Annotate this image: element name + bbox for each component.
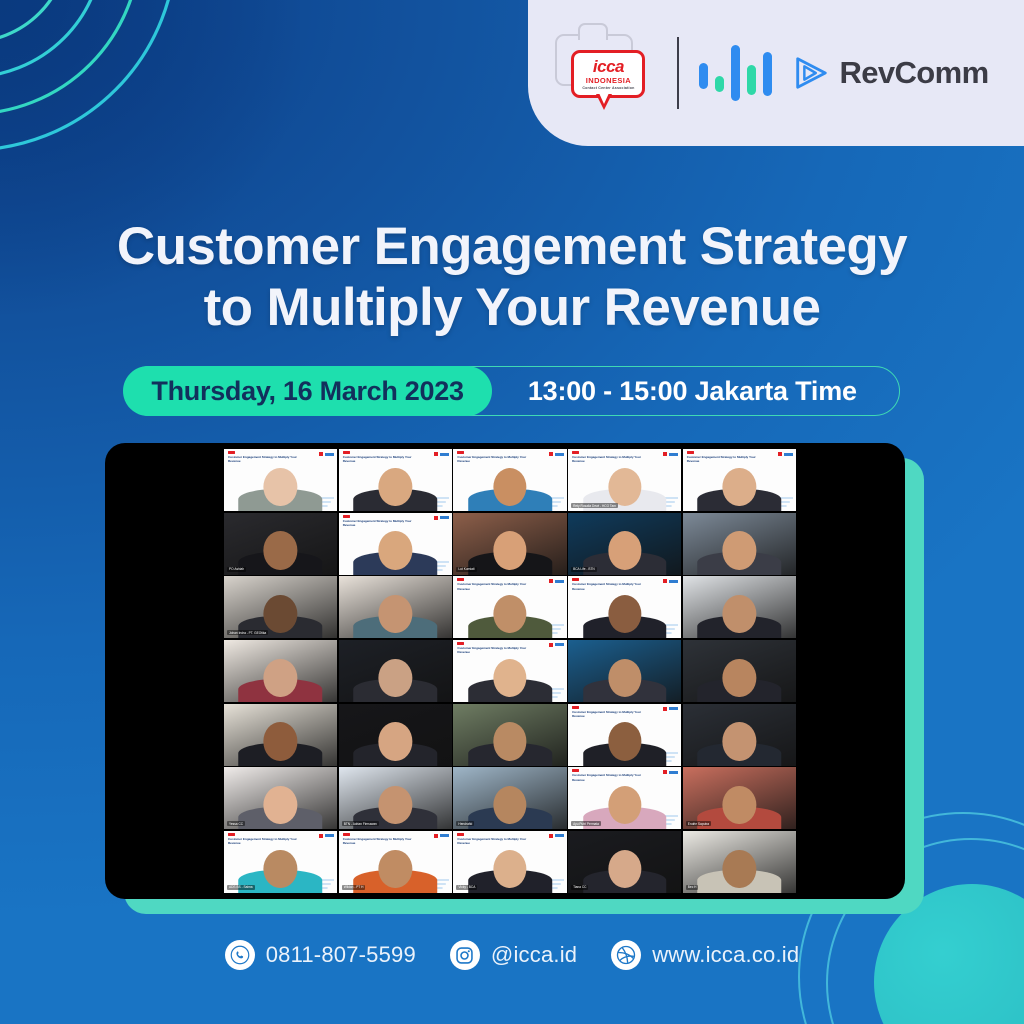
participant-video	[353, 722, 437, 765]
slide-brand-mark	[572, 706, 579, 709]
participant-name-label: Bec H	[686, 885, 699, 890]
participant-name-label: Endrie Saputra	[686, 821, 711, 826]
icca-tagline: Contact Center Association	[582, 86, 634, 91]
waveform-bar-3	[731, 45, 740, 101]
slide-logos	[434, 516, 449, 520]
participant-name-label: Hendrafid	[456, 821, 474, 826]
participant-video	[583, 595, 667, 638]
participant-tile[interactable]	[453, 704, 566, 766]
participant-tile[interactable]	[683, 576, 796, 638]
participant-tile[interactable]	[339, 704, 452, 766]
waveform-bar-4	[747, 65, 756, 95]
participant-tile[interactable]: Customer Engagement Strategy to Multiply…	[339, 831, 452, 893]
participant-video	[468, 531, 552, 574]
date-text: Thursday, 16 March 2023	[151, 376, 463, 407]
participant-video	[698, 595, 782, 638]
participant-head	[608, 722, 642, 761]
participant-tile[interactable]: Yessa CC	[224, 767, 337, 829]
participant-tile[interactable]: Customer Engagement Strategy to Multiply…	[224, 449, 337, 511]
slide-title: Customer Engagement Strategy to Multiply…	[457, 646, 534, 655]
participant-head	[379, 722, 413, 761]
participant-tile[interactable]: Customer Engagement Strategy to Multiply…	[568, 449, 681, 511]
participant-video	[583, 850, 667, 893]
slide-logo-icca	[663, 452, 667, 456]
date-badge: Thursday, 16 March 2023	[123, 366, 491, 416]
participant-head	[493, 595, 527, 634]
participant-head	[723, 786, 757, 825]
participant-head	[608, 659, 642, 698]
participant-tile[interactable]: Tiana CC	[568, 831, 681, 893]
revcomm-wordmark: RevComm	[839, 55, 988, 91]
participant-video	[698, 850, 782, 893]
participant-video	[353, 659, 437, 702]
slide-logo-icca	[663, 707, 667, 711]
whatsapp-number: 0811-807-5599	[266, 942, 416, 968]
participant-tile[interactable]	[683, 640, 796, 702]
participant-head	[723, 531, 757, 570]
participant-name-label: Wildan - PT H	[342, 885, 366, 890]
slide-title: Customer Engagement Strategy to Multiply…	[457, 837, 534, 846]
participant-head	[264, 531, 298, 570]
slide-logo-icca	[663, 770, 667, 774]
participant-tile[interactable]: Customer Engagement Strategy to Multiply…	[453, 576, 566, 638]
participant-tile[interactable]: PO Ashiah	[224, 513, 337, 575]
icca-logo: icca INDONESIA Contact Center Associatio…	[553, 28, 657, 118]
participant-head	[493, 531, 527, 570]
participant-tile[interactable]: Customer Engagement Strategy to Multiply…	[339, 449, 452, 511]
slide-logo-icca	[549, 834, 553, 838]
participant-video	[468, 786, 552, 829]
slide-logos	[549, 579, 564, 583]
participant-video	[468, 595, 552, 638]
icca-country: INDONESIA	[586, 76, 631, 86]
participant-head	[493, 850, 527, 889]
title-line-1: Customer Engagement Strategy	[0, 216, 1024, 277]
participant-video	[353, 595, 437, 638]
participant-head	[379, 850, 413, 889]
participant-video	[468, 659, 552, 702]
slide-logos	[663, 579, 678, 583]
participant-tile[interactable]	[339, 640, 452, 702]
waveform-bar-2	[715, 76, 724, 92]
slide-logo-icca	[663, 579, 667, 583]
slide-logo-revcomm	[669, 453, 678, 456]
slide-logo-revcomm	[555, 580, 564, 583]
participant-video	[239, 659, 323, 702]
participant-head	[608, 786, 642, 825]
participant-video	[698, 531, 782, 574]
slide-title: Customer Engagement Strategy to Multiply…	[343, 455, 420, 464]
slide-logo-revcomm	[669, 771, 678, 774]
slide-title: Customer Engagement Strategy to Multiply…	[228, 455, 305, 464]
participant-tile[interactable]: Customer Engagement Strategy to Multiply…	[339, 513, 452, 575]
participant-video	[239, 468, 323, 511]
participant-head	[379, 595, 413, 634]
slide-title: Customer Engagement Strategy to Multiply…	[572, 455, 649, 464]
slide-logo-revcomm	[440, 453, 449, 456]
slide-logo-icca	[549, 579, 553, 583]
participant-head	[608, 595, 642, 634]
participant-head	[379, 786, 413, 825]
participant-video	[698, 468, 782, 511]
slide-title: Customer Engagement Strategy to Multiply…	[687, 455, 764, 464]
slide-logos	[663, 707, 678, 711]
slide-brand-mark	[457, 451, 464, 454]
icca-wordmark: icca	[593, 58, 624, 75]
slide-logos	[549, 834, 564, 838]
slide-logo-revcomm	[669, 580, 678, 583]
contact-whatsapp[interactable]: 0811-807-5599	[225, 940, 416, 970]
instagram-icon	[450, 940, 480, 970]
participant-name-label: Rety Rosalia Dewi - HCO Tam	[571, 503, 618, 508]
slide-logo-icca	[434, 516, 438, 520]
slide-logos	[663, 452, 678, 456]
slide-logo-icca	[434, 834, 438, 838]
globe-icon	[611, 940, 641, 970]
slide-brand-mark	[457, 833, 464, 836]
slide-brand-mark	[343, 833, 350, 836]
participant-head	[493, 786, 527, 825]
participant-name-label: Tiana CC	[571, 885, 588, 890]
slide-logos	[434, 452, 449, 456]
participant-tile[interactable]: Endrie Saputra	[683, 767, 796, 829]
participant-head	[379, 468, 413, 507]
logo-divider	[677, 37, 679, 109]
slide-logos	[319, 834, 334, 838]
participant-tile[interactable]: Customer Engagement Strategy to Multiply…	[568, 576, 681, 638]
slide-logos	[663, 770, 678, 774]
participant-tile[interactable]: Bec H	[683, 831, 796, 893]
participant-tile[interactable]: Customer Engagement Strategy to Multiply…	[453, 831, 566, 893]
participant-tile[interactable]: Customer Engagement Strategy to Multiply…	[453, 449, 566, 511]
slide-logo-revcomm	[784, 453, 793, 456]
participant-tile[interactable]	[224, 704, 337, 766]
participant-video	[698, 722, 782, 765]
slide-logo-revcomm	[325, 834, 334, 837]
slide-logo-revcomm	[555, 643, 564, 646]
participant-tile[interactable]: Customer Engagement Strategy to Multiply…	[453, 640, 566, 702]
participant-video	[353, 468, 437, 511]
slide-title: Customer Engagement Strategy to Multiply…	[457, 455, 534, 464]
slide-title: Customer Engagement Strategy to Multiply…	[343, 837, 420, 846]
participant-head	[264, 659, 298, 698]
slide-logo-revcomm	[440, 516, 449, 519]
participant-head	[723, 722, 757, 761]
participant-video	[468, 468, 552, 511]
participant-video	[583, 659, 667, 702]
waveform-bar-1	[699, 63, 708, 89]
participant-tile[interactable]: BCA Life - BTN	[568, 513, 681, 575]
slide-logos	[549, 452, 564, 456]
website-url: www.icca.co.id	[652, 942, 799, 968]
slide-brand-mark	[572, 769, 579, 772]
event-title: Customer Engagement Strategy to Multiply…	[0, 216, 1024, 339]
participant-name-label: BCA Life - BTN	[571, 567, 597, 572]
participant-name-label: Yessa CC	[227, 821, 245, 826]
participant-head	[723, 659, 757, 698]
slide-brand-mark	[228, 833, 235, 836]
slide-logo-icca	[319, 834, 323, 838]
participant-tile[interactable]	[568, 640, 681, 702]
participant-head	[608, 531, 642, 570]
contact-instagram[interactable]: @icca.id	[450, 940, 577, 970]
participant-head	[723, 468, 757, 507]
slide-logos	[319, 452, 334, 456]
slide-logos	[434, 834, 449, 838]
participant-video	[353, 531, 437, 574]
participant-tile[interactable]	[683, 513, 796, 575]
participant-video	[468, 850, 552, 893]
participant-name-label: PO Ashiah	[227, 567, 246, 572]
participant-head	[264, 595, 298, 634]
slide-logo-icca	[778, 452, 782, 456]
slide-title: Customer Engagement Strategy to Multiply…	[572, 710, 649, 719]
participant-head	[264, 786, 298, 825]
participant-head	[379, 531, 413, 570]
participant-grid: Customer Engagement Strategy to Multiply…	[224, 449, 796, 893]
speech-bubble-icon: icca INDONESIA Contact Center Associatio…	[571, 50, 645, 98]
footer-contacts: 0811-807-5599 @icca.id www.icca.co.id	[0, 940, 1024, 970]
participant-video	[468, 722, 552, 765]
instagram-handle: @icca.id	[491, 942, 577, 968]
slide-title: Customer Engagement Strategy to Multiply…	[343, 519, 420, 528]
participant-video	[239, 722, 323, 765]
slide-logo-revcomm	[555, 834, 564, 837]
participant-video	[698, 659, 782, 702]
title-line-2: to Multiply Your Revenue	[0, 277, 1024, 338]
zoom-gallery-screenshot: Customer Engagement Strategy to Multiply…	[105, 443, 905, 899]
slide-logo-revcomm	[555, 453, 564, 456]
header-logo-panel: icca INDONESIA Contact Center Associatio…	[528, 0, 1024, 146]
time-text: 13:00 - 15:00 Jakarta Time	[492, 376, 899, 407]
participant-tile[interactable]	[683, 704, 796, 766]
slide-brand-mark	[343, 515, 350, 518]
slide-title: Customer Engagement Strategy to Multiply…	[572, 582, 649, 591]
participant-video	[239, 786, 323, 829]
slide-brand-mark	[687, 451, 694, 454]
participant-tile[interactable]	[224, 640, 337, 702]
participant-head	[264, 850, 298, 889]
bubble-tail-icon	[596, 94, 612, 110]
participant-head	[608, 850, 642, 889]
slide-brand-mark	[343, 451, 350, 454]
participant-head	[723, 850, 757, 889]
slide-logo-icca	[549, 643, 553, 647]
slide-logo-icca	[549, 452, 553, 456]
participant-head	[379, 659, 413, 698]
revcomm-logo: RevComm	[792, 54, 988, 92]
participant-tile[interactable]: Customer Engagement Strategy to Multiply…	[224, 831, 337, 893]
slide-logos	[549, 643, 564, 647]
slide-brand-mark	[572, 451, 579, 454]
participant-name-label: Lut Kurniati	[456, 567, 476, 572]
participant-head	[264, 468, 298, 507]
slide-logo-revcomm	[325, 453, 334, 456]
participant-head	[264, 722, 298, 761]
participant-name-label: Johan Indra - PT. GEOtika	[227, 630, 268, 635]
slide-logos	[778, 452, 793, 456]
waveform-bars-icon	[699, 42, 772, 104]
participant-head	[723, 595, 757, 634]
slide-logo-icca	[319, 452, 323, 456]
participant-video	[239, 531, 323, 574]
participant-tile[interactable]: Customer Engagement Strategy to Multiply…	[568, 767, 681, 829]
participant-name-label: ADS BS - Salma	[227, 885, 255, 890]
slide-logo-revcomm	[440, 834, 449, 837]
participant-tile[interactable]	[339, 576, 452, 638]
slide-title: Customer Engagement Strategy to Multiply…	[457, 582, 534, 591]
slide-title: Customer Engagement Strategy to Multiply…	[228, 837, 305, 846]
participant-name-label: Vicky - BCA	[456, 885, 477, 890]
participant-video	[353, 850, 437, 893]
participant-head	[493, 659, 527, 698]
participant-head	[493, 722, 527, 761]
slide-brand-mark	[228, 451, 235, 454]
participant-tile[interactable]: Johan Indra - PT. GEOtika	[224, 576, 337, 638]
slide-logo-icca	[434, 452, 438, 456]
participant-name-label: Ayu Putri Permata	[571, 821, 601, 826]
participant-tile[interactable]: BTN - Adrian Firmawan	[339, 767, 452, 829]
concentric-arcs-decoration	[0, 0, 238, 212]
slide-logo-revcomm	[669, 707, 678, 710]
slide-brand-mark	[457, 578, 464, 581]
slide-brand-mark	[572, 578, 579, 581]
participant-head	[608, 468, 642, 507]
participant-tile[interactable]: Lut Kurniati	[453, 513, 566, 575]
participant-video	[583, 722, 667, 765]
participant-name-label: BTN - Adrian Firmawan	[342, 821, 379, 826]
participant-tile[interactable]: Hendrafid	[453, 767, 566, 829]
whatsapp-icon	[225, 940, 255, 970]
contact-website[interactable]: www.icca.co.id	[611, 940, 799, 970]
play-triangle-icon	[792, 54, 830, 92]
slide-title: Customer Engagement Strategy to Multiply…	[572, 773, 649, 782]
participant-head	[493, 468, 527, 507]
participant-tile[interactable]: Customer Engagement Strategy to Multiply…	[568, 704, 681, 766]
waveform-bar-5	[763, 52, 772, 96]
participant-tile[interactable]: Customer Engagement Strategy to Multiply…	[683, 449, 796, 511]
slide-brand-mark	[457, 642, 464, 645]
schedule-bar: Thursday, 16 March 2023 13:00 - 15:00 Ja…	[124, 366, 900, 416]
